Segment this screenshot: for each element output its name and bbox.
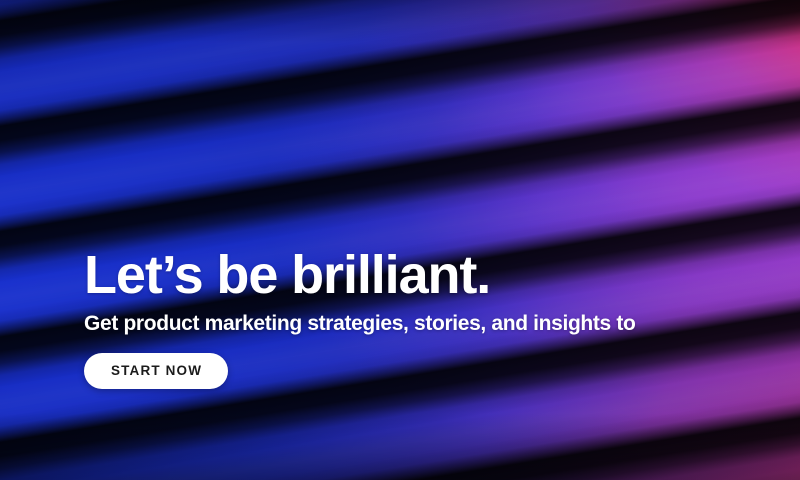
background-vignette: [0, 0, 800, 480]
background-artwork: [0, 0, 800, 480]
hero-cta-container: START NOW: [84, 353, 800, 389]
hero-banner: Let’s be brilliant. Get product marketin…: [0, 0, 800, 480]
start-now-button[interactable]: START NOW: [84, 353, 228, 389]
hero-content: Let’s be brilliant. Get product marketin…: [84, 247, 800, 389]
hero-headline: Let’s be brilliant.: [84, 247, 800, 303]
hero-subheadline: Get product marketing strategies, storie…: [84, 311, 800, 336]
